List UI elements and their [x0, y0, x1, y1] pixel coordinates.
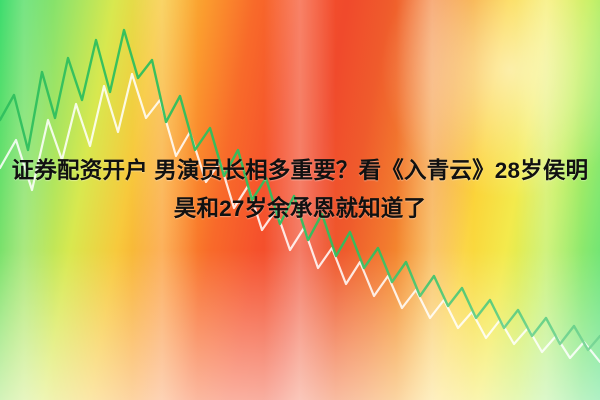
background-glow-bottom	[0, 250, 600, 400]
banner-headline: 证券配资开户 男演员长相多重要？看《入青云》28岁侯明昊和27岁余承恩就知道了	[0, 152, 600, 228]
promo-banner: 证券配资开户 男演员长相多重要？看《入青云》28岁侯明昊和27岁余承恩就知道了	[0, 0, 600, 400]
